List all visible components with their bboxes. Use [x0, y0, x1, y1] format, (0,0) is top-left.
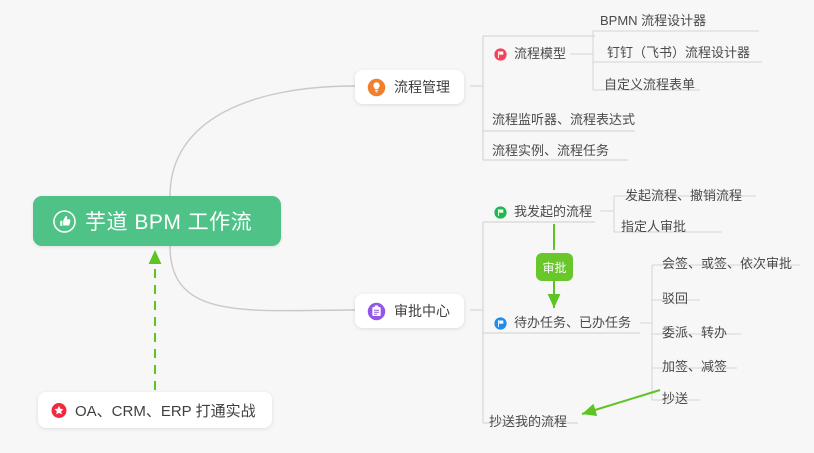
branch-node-liucheng-guanli[interactable]: 流程管理	[355, 70, 464, 104]
branch-node-shenpi-zhongxin[interactable]: 审批中心	[355, 294, 464, 328]
edge-root-to-liucheng-guanli	[170, 86, 355, 196]
leaf-cc-to-me[interactable]: 抄送我的流程	[489, 415, 567, 429]
star-icon	[51, 402, 67, 418]
branch-label: 审批中心	[394, 301, 450, 321]
flag-icon	[494, 317, 507, 330]
leaf-dingding-designer[interactable]: 钉钉（飞书）流程设计器	[607, 46, 750, 60]
callout-badge-shenpi: 审批	[536, 253, 573, 281]
leaf-my-initiated[interactable]: 我发起的流程	[494, 205, 592, 219]
leaf-label: 待办任务、已办任务	[514, 316, 631, 330]
leaf-label: 流程监听器、流程表达式	[492, 113, 635, 127]
leaf-label: 自定义流程表单	[604, 78, 695, 92]
leaf-instance-task[interactable]: 流程实例、流程任务	[492, 144, 609, 158]
flag-icon	[494, 206, 507, 219]
leaf-label: 会签、或签、依次审批	[662, 257, 792, 271]
callout-badge-label: 审批	[542, 259, 566, 276]
leaf-listener-expression[interactable]: 流程监听器、流程表达式	[492, 113, 635, 127]
leaf-countersign[interactable]: 会签、或签、依次审批	[662, 257, 792, 271]
flag-icon	[494, 48, 507, 61]
leaf-liucheng-moxing[interactable]: 流程模型	[494, 47, 566, 61]
floating-card-label: OA、CRM、ERP 打通实战	[75, 400, 256, 421]
leaf-label: 加签、减签	[662, 360, 727, 374]
thumbs-up-icon	[53, 210, 76, 233]
floating-card-oa-crm-erp[interactable]: OA、CRM、ERP 打通实战	[38, 392, 272, 428]
leaf-custom-form[interactable]: 自定义流程表单	[604, 78, 695, 92]
leaf-label: 抄送我的流程	[489, 415, 567, 429]
leaf-initiate-cancel[interactable]: 发起流程、撤销流程	[625, 189, 742, 203]
leaf-label: 发起流程、撤销流程	[625, 189, 742, 203]
leaf-label: 驳回	[662, 292, 688, 306]
leaf-delegate-transfer[interactable]: 委派、转办	[662, 326, 727, 340]
leaf-add-remove-sign[interactable]: 加签、减签	[662, 360, 727, 374]
leaf-label: 指定人审批	[621, 220, 686, 234]
edge-root-to-shenpi-zhongxin	[170, 246, 355, 311]
leaf-assignee-approval[interactable]: 指定人审批	[621, 220, 686, 234]
edge-chaosong-arrow	[582, 390, 660, 414]
leaf-label: 抄送	[662, 392, 688, 406]
leaf-bpmn-designer[interactable]: BPMN 流程设计器	[600, 14, 706, 28]
leaf-label: 流程模型	[514, 47, 566, 61]
mindmap-canvas: 芋道 BPM 工作流 流程管理 流程模型 BPMN 流程设计器 钉钉（飞书	[0, 0, 814, 453]
leaf-label: 钉钉（飞书）流程设计器	[607, 46, 750, 60]
leaf-reject[interactable]: 驳回	[662, 292, 688, 306]
leaf-label: 委派、转办	[662, 326, 727, 340]
lightbulb-icon	[367, 78, 386, 97]
clipboard-icon	[367, 302, 386, 321]
leaf-label: 流程实例、流程任务	[492, 144, 609, 158]
root-node[interactable]: 芋道 BPM 工作流	[33, 196, 281, 246]
leaf-label: 我发起的流程	[514, 205, 592, 219]
branch-label: 流程管理	[394, 77, 450, 97]
leaf-todo-done-tasks[interactable]: 待办任务、已办任务	[494, 316, 631, 330]
leaf-cc[interactable]: 抄送	[662, 392, 688, 406]
leaf-label: BPMN 流程设计器	[600, 14, 706, 28]
root-label: 芋道 BPM 工作流	[85, 206, 252, 236]
